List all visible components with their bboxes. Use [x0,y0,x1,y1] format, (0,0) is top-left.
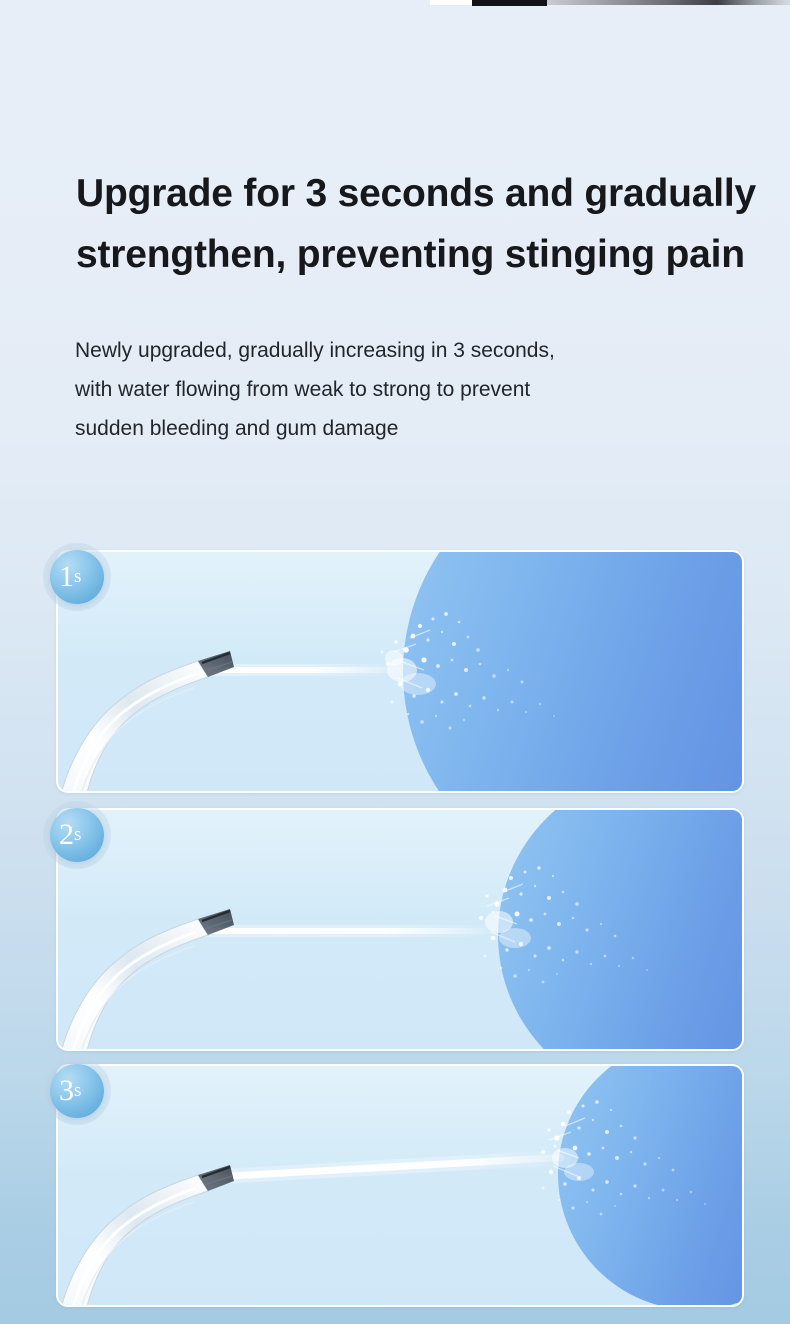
page-description: Newly upgraded, gradually increasing in … [75,331,735,448]
demo-panel-1-second [56,550,744,793]
page-description-line-1: Newly upgraded, gradually increasing in … [75,331,735,370]
page-title-line-1: Upgrade for 3 seconds and gradually [76,163,776,224]
time-badge-unit: s [74,825,81,846]
time-badge-3s: 3 s [50,1064,104,1118]
time-badge-2s: 2 s [50,808,104,862]
page-title: Upgrade for 3 seconds and gradually stre… [76,163,776,285]
flosser-nozzle-icon [56,1131,262,1307]
time-badge-unit: s [74,1081,81,1102]
time-badge-number: 2 [59,820,74,850]
flosser-nozzle-icon [56,875,262,1051]
page-description-line-2: with water flowing from weak to strong t… [75,370,735,409]
top-strip-dark-segment [472,0,547,6]
demo-panel-2-seconds [56,808,744,1051]
time-badge-number: 3 [59,1076,74,1106]
time-badge-number: 1 [59,562,74,592]
time-badge-1s: 1 s [50,550,104,604]
time-badge-unit: s [74,567,81,588]
page-description-line-3: sudden bleeding and gum damage [75,409,735,448]
demo-panel-3-seconds [56,1064,744,1307]
top-cutoff-strip [0,0,790,7]
page-title-line-2: strengthen, preventing stinging pain [76,224,776,285]
flosser-nozzle-icon [56,617,262,793]
top-strip-gradient-segment [547,0,790,5]
top-strip-white-segment [430,0,472,5]
